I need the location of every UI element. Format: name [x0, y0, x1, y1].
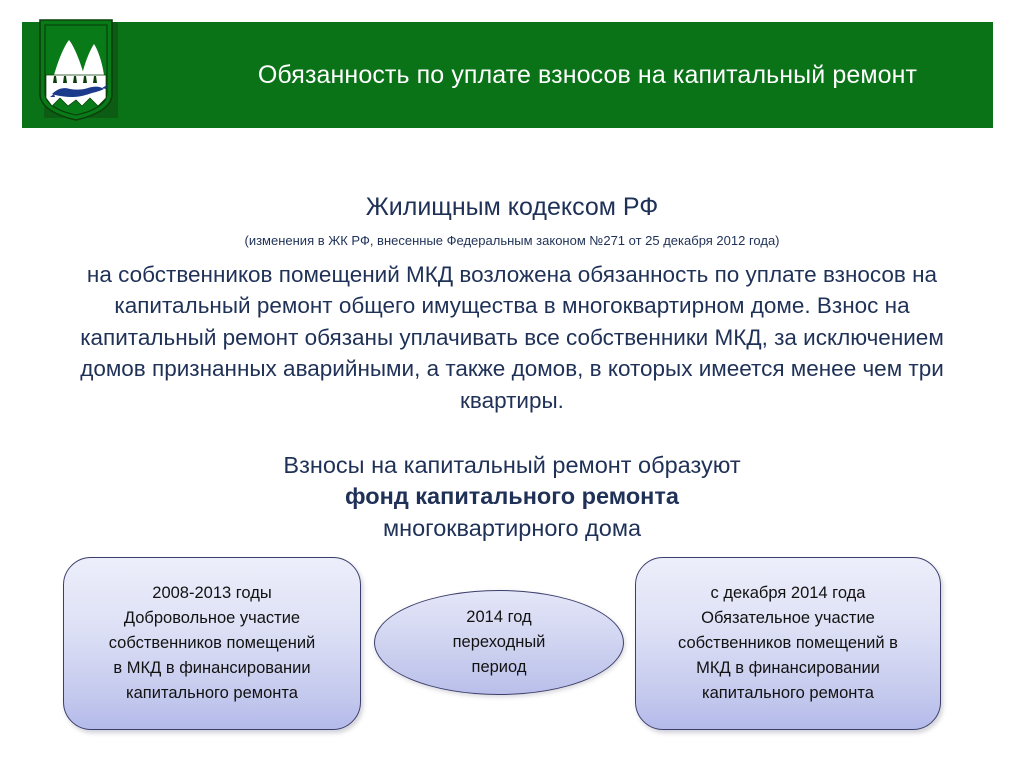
- slide: Обязанность по уплате взносов на капитал…: [0, 0, 1024, 768]
- diagram-box-voluntary-period: 2008-2013 годы Добровольное участие собс…: [63, 557, 361, 730]
- diagram-ellipse-transition-period: 2014 год переходный период: [374, 590, 624, 695]
- diagram-ellipse-text: 2014 год переходный период: [453, 605, 546, 680]
- fund-line-1: Взносы на капитальный ремонт образуют: [52, 450, 972, 481]
- coat-of-arms-surgut-icon: [38, 18, 120, 122]
- body-text-block: Жилищным кодексом РФ (изменения в ЖК РФ,…: [52, 192, 972, 416]
- lead-note: (изменения в ЖК РФ, внесенные Федеральны…: [52, 233, 972, 249]
- page-title: Обязанность по уплате взносов на капитал…: [182, 22, 993, 128]
- body-paragraph: на собственников помещений МКД возложена…: [52, 259, 972, 417]
- lead-title: Жилищным кодексом РФ: [52, 192, 972, 222]
- diagram-box-mandatory-period: с декабря 2014 года Обязательное участие…: [635, 557, 941, 730]
- diagram-box-right-text: с декабря 2014 года Обязательное участие…: [670, 581, 906, 706]
- diagram-box-left-text: 2008-2013 годы Добровольное участие собс…: [101, 581, 324, 706]
- timeline-diagram: 2008-2013 годы Добровольное участие собс…: [0, 530, 1024, 768]
- header-banner: Обязанность по уплате взносов на капитал…: [22, 22, 993, 128]
- fund-line-2-bold: фонд капитального ремонта: [52, 481, 972, 512]
